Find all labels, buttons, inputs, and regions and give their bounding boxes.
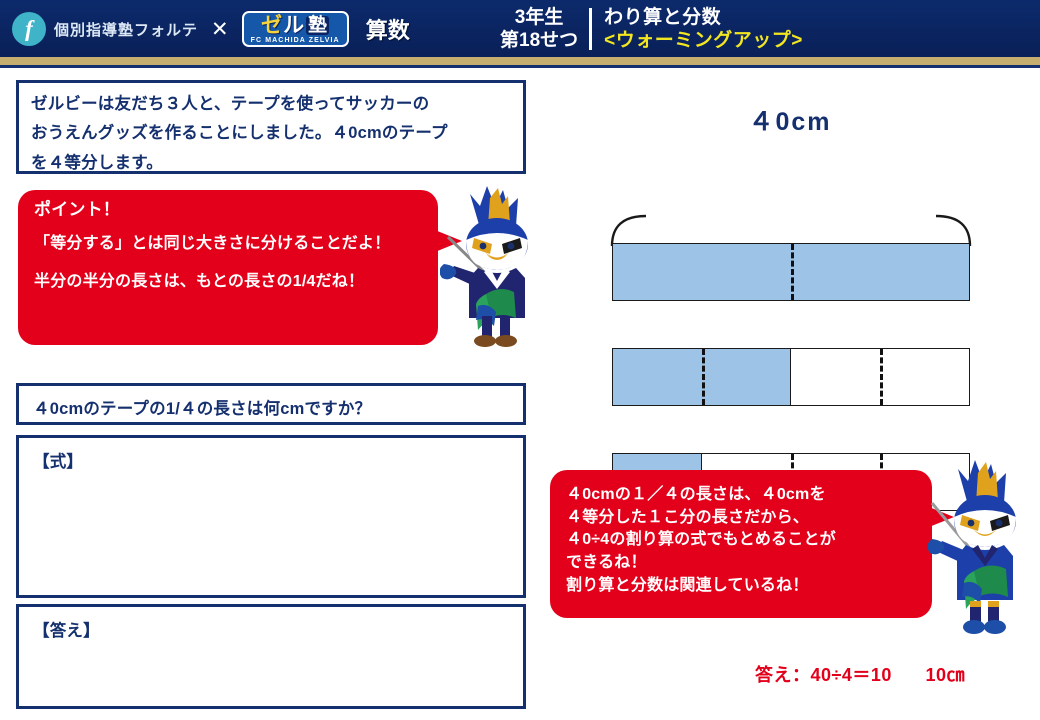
forte-logo-letter: f	[25, 17, 33, 40]
zel-logo-subtitle: FC MACHIDA ZELVIA	[251, 37, 340, 44]
final-answer-label: 【答え】	[33, 617, 509, 641]
brand-lockup: f 個別指導塾フォルテ ✕ ゼ ル 塾 FC MACHIDA ZELVIA 算数	[12, 8, 410, 50]
header-titles: わり算と分数 <ウォーミングアップ>	[604, 6, 803, 52]
unit-title: わり算と分数	[604, 6, 803, 29]
subject-label: 算数	[366, 13, 410, 45]
zelvy-mascot-upper	[440, 182, 552, 350]
worksheet-page: f 個別指導塾フォルテ ✕ ゼ ル 塾 FC MACHIDA ZELVIA 算数…	[0, 0, 1040, 720]
question-box: ４0cmのテープの1/４の長さは何cmですか？	[16, 383, 526, 425]
tape-bar-full	[612, 243, 970, 301]
header-gold-strip	[0, 57, 1040, 65]
grade-section-block: 3年生 第18せつ	[500, 6, 589, 52]
explanation-line: できるね！	[566, 552, 916, 575]
formula-label: 【式】	[33, 448, 509, 472]
header-divider	[589, 8, 592, 50]
tape-length-label: ４0cm	[540, 102, 1040, 138]
formula-answer-box[interactable]: 【式】	[16, 435, 526, 598]
page-header: f 個別指導塾フォルテ ✕ ゼ ル 塾 FC MACHIDA ZELVIA 算数…	[0, 0, 1040, 57]
explanation-callout: ４0cmの１／４の長さは、４0cmを ４等分した１こ分の長さだから、 ４0÷4の…	[550, 470, 932, 618]
answer-key-line: 答え：40÷4＝10 10㎝	[755, 661, 965, 687]
zel-logo-main: ゼ ル 塾	[261, 15, 329, 36]
point-callout: ポイント！ 「等分する」とは同じ大きさに分けることだよ！ 半分の半分の長さは、も…	[18, 190, 438, 345]
zel-logo-char-ru: ル	[283, 15, 304, 36]
tape-dashed-divider	[791, 244, 794, 300]
zel-logo-char-juku: 塾	[306, 16, 329, 35]
answer-key-equation: 答え：40÷4＝10	[755, 665, 892, 685]
tape-dashed-divider	[702, 349, 705, 405]
problem-line: おうえんグッズを作ることにしました。４0cmのテープ	[31, 119, 511, 148]
tape-diagram: ４0cm	[540, 80, 1040, 440]
zelvia-juku-logo: ゼ ル 塾 FC MACHIDA ZELVIA	[242, 11, 349, 47]
phase-title: <ウォーミングアップ>	[604, 29, 803, 52]
point-callout-body-2: 半分の半分の長さは、もとの長さの1/4だね！	[34, 272, 422, 292]
point-callout-title: ポイント！	[34, 200, 422, 220]
zelvy-mascot-lower	[928, 455, 1040, 640]
answer-key-value: 10㎝	[925, 665, 965, 685]
header-underline	[0, 65, 1040, 68]
point-callout-body-1: 「等分する」とは同じ大きさに分けることだよ！	[34, 234, 422, 254]
tape-dashed-divider	[880, 349, 883, 405]
problem-line: ゼルビーは友だち３人と、テープを使ってサッカーの	[31, 90, 511, 119]
forte-brand-name: 個別指導塾フォルテ	[54, 19, 198, 40]
section-label: 第18せつ	[500, 29, 578, 52]
measure-brace-icon	[598, 208, 984, 248]
problem-statement-box: ゼルビーは友だち３人と、テープを使ってサッカーの おうえんグッズを作ることにしま…	[16, 80, 526, 174]
explanation-line: ４0÷4の割り算の式でもとめることが	[566, 529, 916, 552]
cross-icon: ✕	[211, 17, 229, 42]
tape-bar-half	[612, 348, 970, 406]
grade-label: 3年生	[500, 6, 578, 29]
zel-logo-char-ze: ゼ	[261, 15, 282, 36]
forte-logo-icon: f	[12, 12, 46, 46]
header-title-block: 3年生 第18せつ わり算と分数 <ウォーミングアップ>	[500, 4, 803, 54]
problem-line: を４等分します。	[31, 149, 511, 178]
question-text: ４0cmのテープの1/４の長さは何cmですか？	[33, 395, 509, 419]
explanation-line: 割り算と分数は関連しているね！	[566, 575, 916, 598]
final-answer-box[interactable]: 【答え】	[16, 604, 526, 709]
explanation-line: ４0cmの１／４の長さは、４0cmを	[566, 484, 916, 507]
explanation-line: ４等分した１こ分の長さだから、	[566, 507, 916, 530]
